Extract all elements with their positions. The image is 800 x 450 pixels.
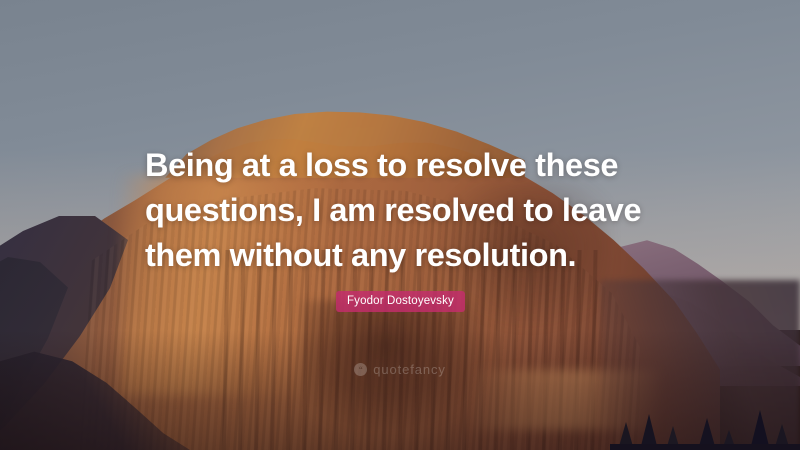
quote-card: Being at a loss to resolve these questio… — [0, 0, 800, 450]
quote-line-3: them without any resolution. — [145, 233, 675, 278]
conifer-tree-silhouettes — [610, 392, 800, 450]
author-badge[interactable]: Fyodor Dostoyevsky — [336, 291, 465, 312]
quote-text: Being at a loss to resolve these questio… — [145, 143, 675, 278]
quote-line-1: Being at a loss to resolve these — [145, 143, 675, 188]
quote-line-2: questions, I am resolved to leave — [145, 188, 675, 233]
